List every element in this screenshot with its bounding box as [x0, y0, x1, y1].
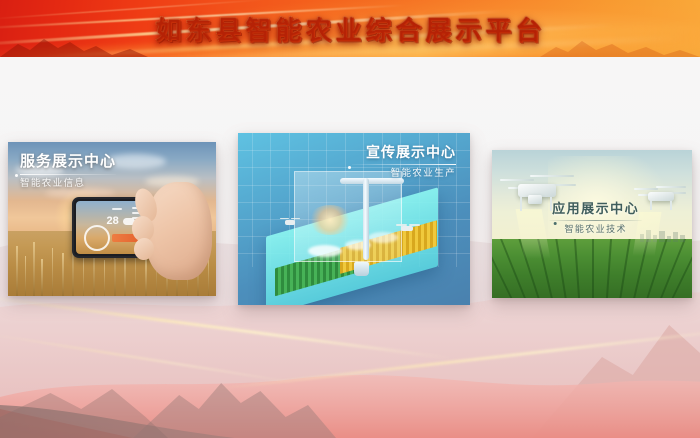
hand — [146, 182, 212, 280]
divider — [550, 220, 642, 221]
divider — [20, 174, 116, 175]
card-promotion-subtitle: 智能农业生产 — [352, 169, 456, 179]
card-promotion-text: 宣传展示中心 智能农业生产 — [352, 145, 456, 179]
drone-icon — [280, 216, 300, 226]
card-application-center[interactable]: 应用展示中心 智能农业技术 — [492, 150, 692, 298]
card-service-text: 服务展示中心 智能农业信息 — [20, 154, 116, 189]
hud-temperature: 28 — [106, 215, 118, 227]
card-service-title: 服务展示中心 — [20, 154, 116, 169]
card-application-title: 应用展示中心 — [550, 202, 642, 215]
card-service-subtitle: 智能农业信息 — [20, 179, 116, 189]
card-application-text: 应用展示中心 智能农业技术 — [550, 202, 642, 234]
accent-dot — [348, 166, 351, 169]
card-promotion-center[interactable]: 宣传展示中心 智能农业生产 — [238, 133, 470, 305]
card-promotion-title: 宣传展示中心 — [352, 145, 456, 159]
divider — [352, 164, 456, 165]
accent-dot — [554, 222, 557, 225]
header-banner: 如东县智能农业综合展示平台 — [0, 0, 700, 57]
card-application-subtitle: 智能农业技术 — [550, 225, 642, 234]
accent-dot — [15, 174, 18, 177]
cloud-icon — [368, 232, 398, 243]
irrigation-pole — [363, 178, 369, 261]
sun-icon — [308, 205, 352, 235]
drone-icon — [634, 183, 688, 213]
cloud-icon — [308, 245, 342, 257]
drone-icon — [396, 222, 420, 234]
app-root: 如东县智能农业综合展示平台 — [0, 0, 700, 438]
card-service-center[interactable]: 28 服务展示中心 智能农业信息 — [8, 142, 216, 296]
page-title: 如东县智能农业综合展示平台 — [0, 0, 700, 57]
water-tank — [354, 262, 369, 276]
